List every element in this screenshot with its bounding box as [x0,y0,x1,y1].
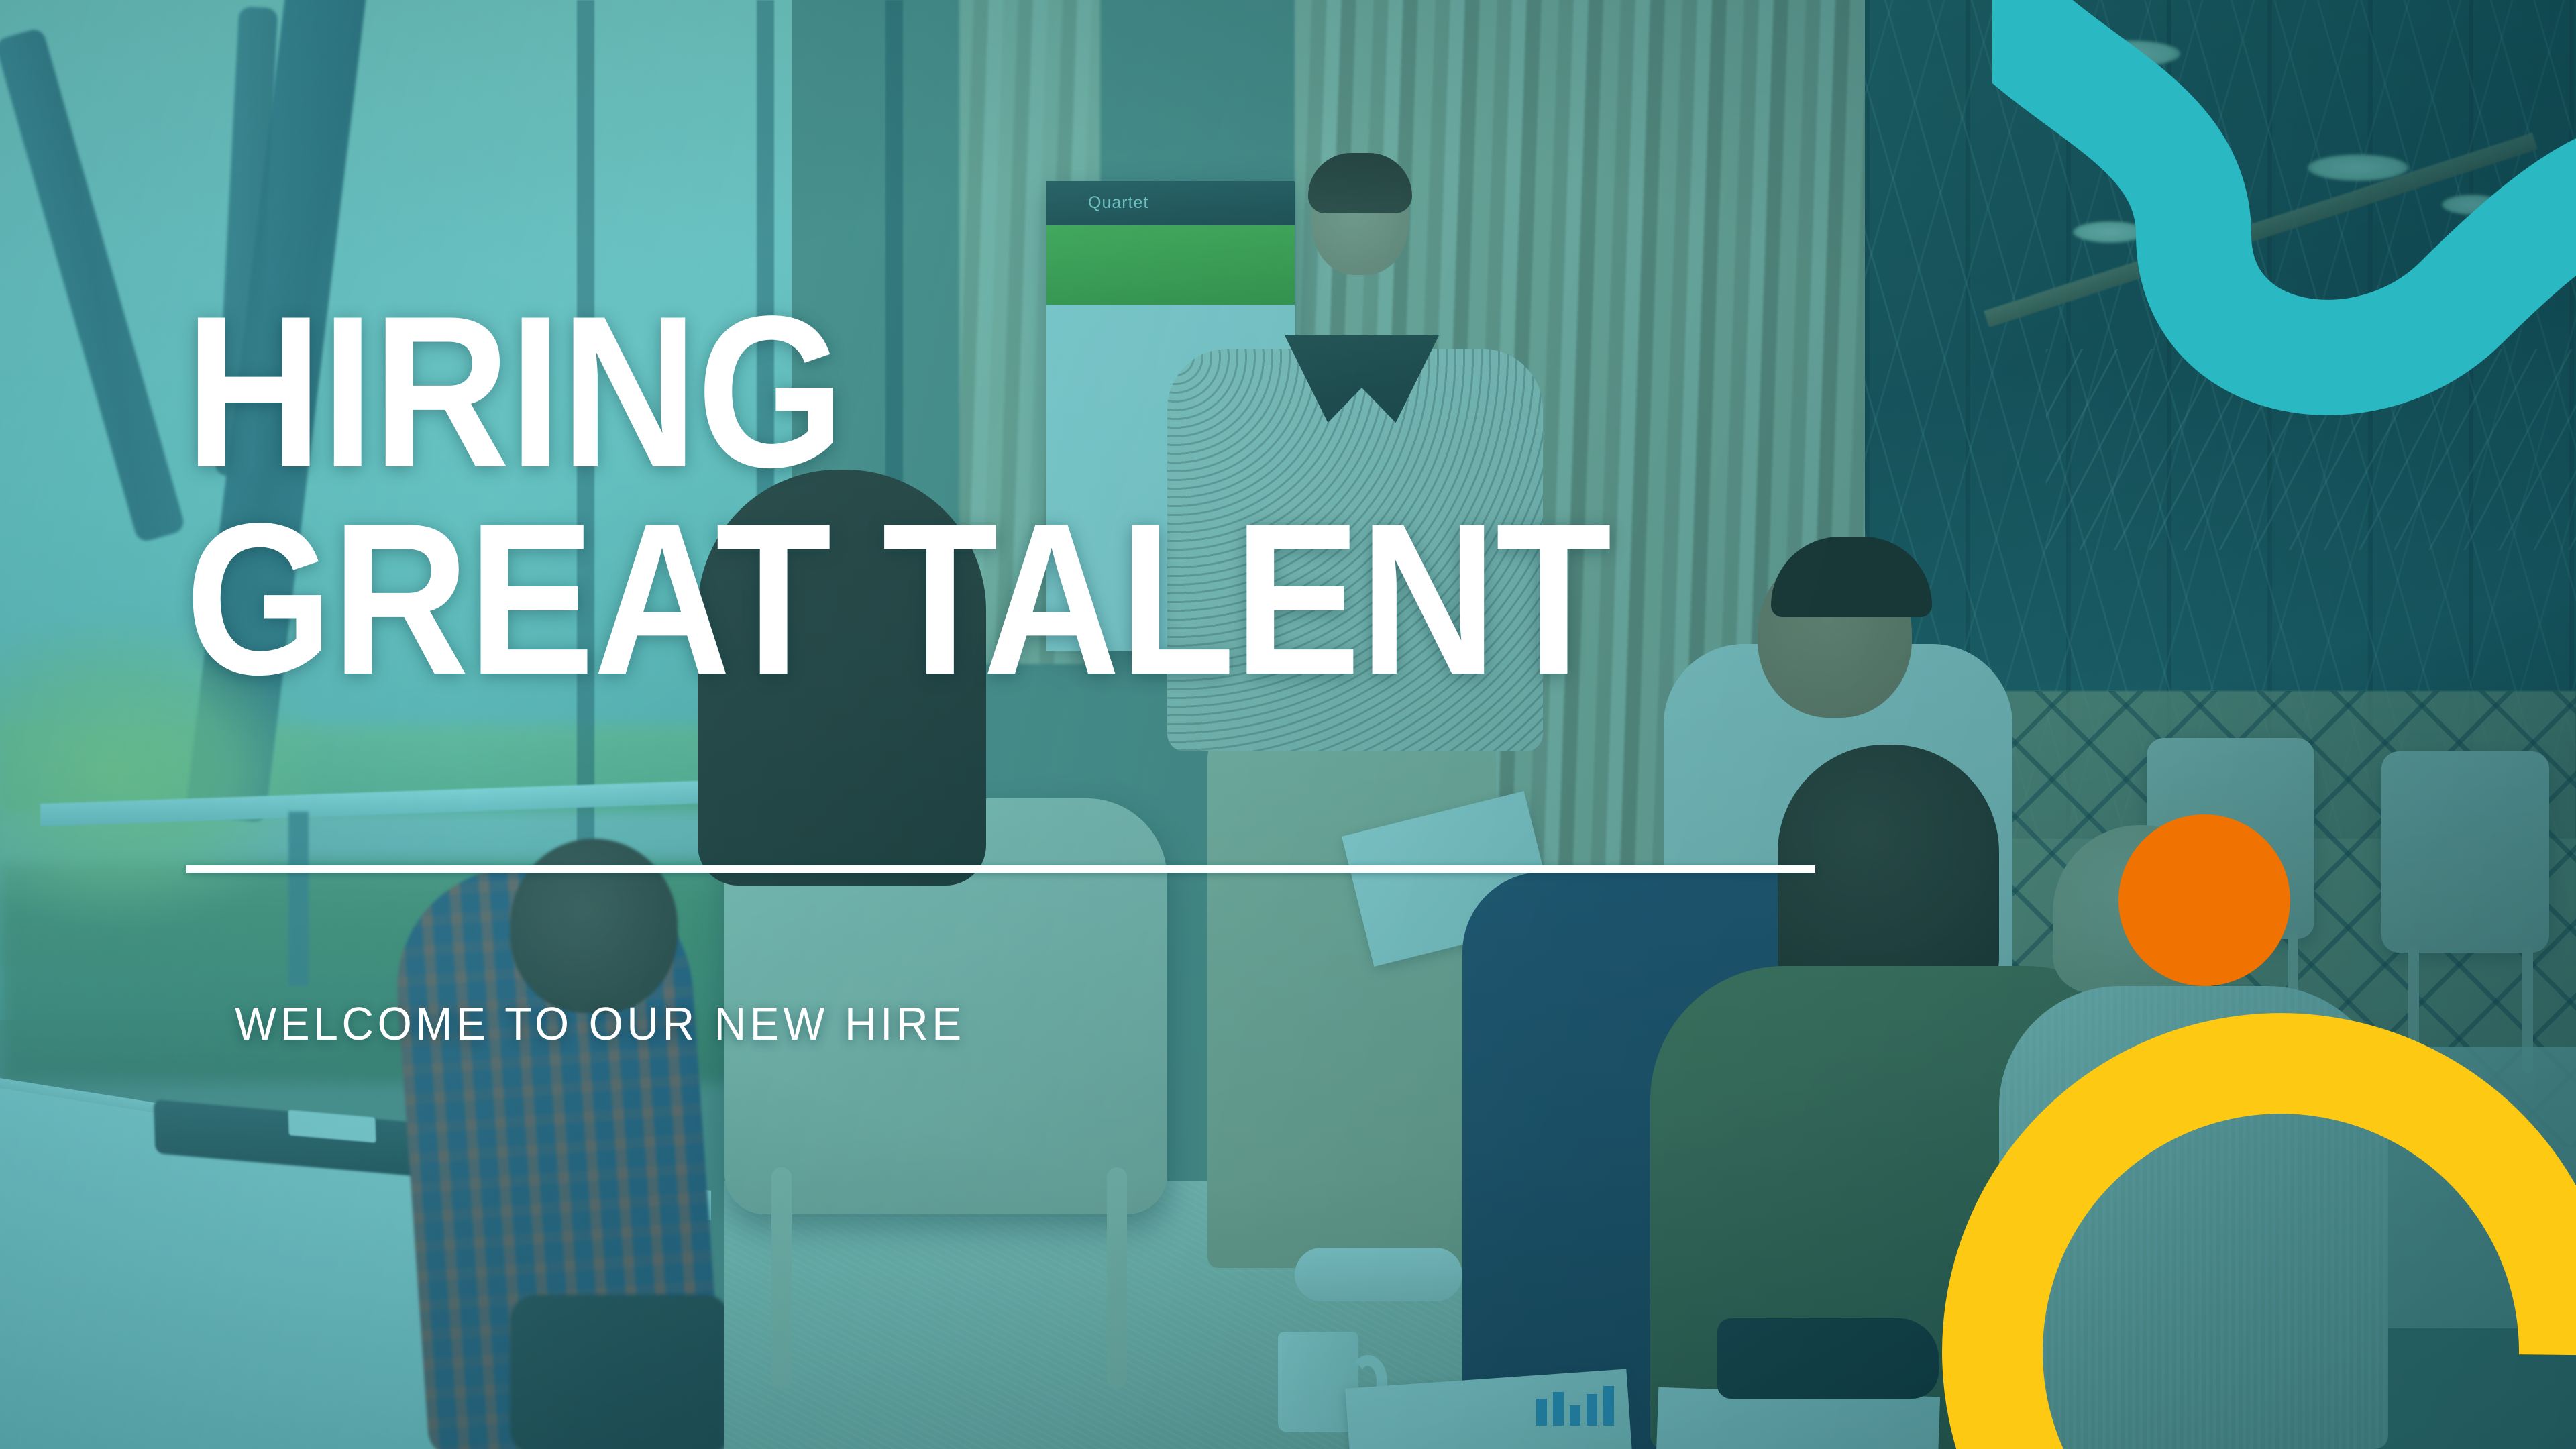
hiring-poster: Quartet [0,0,2576,1449]
yellow-arc-icon [1892,979,2576,1449]
divider-rule [186,865,1815,873]
headline-line-2: GREAT TALENT [185,496,1611,703]
headline-line-1: HIRING [185,272,843,513]
orange-circle-icon [2118,814,2290,986]
page-title: HIRINGGREAT TALENT [185,288,1611,703]
teal-squiggle-icon [1992,0,2576,490]
subtitle: WELCOME TO OUR NEW HIRE [235,997,965,1051]
